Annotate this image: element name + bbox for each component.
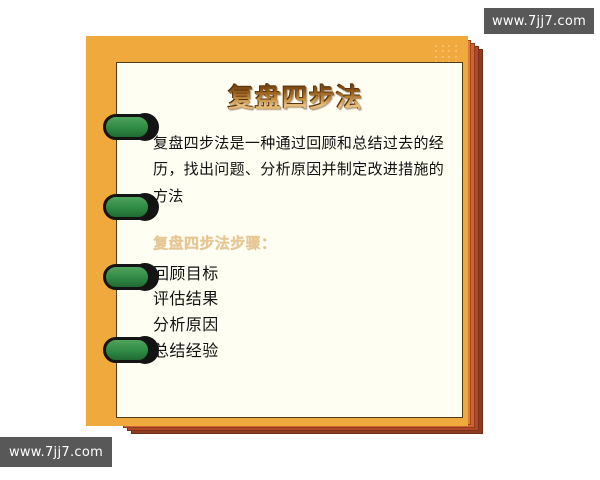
steps-heading: 复盘四步法步骤： bbox=[153, 232, 444, 253]
binder-clip-1-icon bbox=[103, 114, 159, 140]
description-paragraph: 复盘四步法是一种通过回顾和总结过去的经历，找出问题、分析原因并制定改进措施的方法 bbox=[153, 130, 444, 210]
note-card-content: 复盘四步法 复盘四步法是一种通过回顾和总结过去的经历，找出问题、分析原因并制定改… bbox=[117, 63, 462, 417]
list-item: 总结经验 bbox=[153, 338, 444, 364]
watermark-bottom-left: www.7jj7.com bbox=[0, 437, 112, 467]
slide-canvas: 复盘四步法 复盘四步法是一种通过回顾和总结过去的经历，找出问题、分析原因并制定改… bbox=[0, 0, 600, 480]
binder-clip-bar bbox=[103, 337, 151, 363]
binder-clip-bar bbox=[103, 264, 151, 290]
binder-clip-4-icon bbox=[103, 337, 159, 363]
list-item: 回顾目标 bbox=[153, 261, 444, 287]
binder-clip-3-icon bbox=[103, 264, 159, 290]
watermark-top-right: www.7jj7.com bbox=[484, 8, 594, 34]
binder-clip-bar bbox=[103, 114, 151, 140]
list-item: 分析原因 bbox=[153, 312, 444, 338]
page-title: 复盘四步法 bbox=[147, 83, 444, 116]
list-item: 评估结果 bbox=[153, 286, 444, 312]
note-card: 复盘四步法 复盘四步法是一种通过回顾和总结过去的经历，找出问题、分析原因并制定改… bbox=[116, 62, 463, 418]
binder-clip-bar bbox=[103, 194, 151, 220]
binder-clip-2-icon bbox=[103, 194, 159, 220]
dot-grid-decoration-icon bbox=[433, 44, 459, 64]
steps-list: 回顾目标 评估结果 分析原因 总结经验 bbox=[153, 261, 444, 365]
